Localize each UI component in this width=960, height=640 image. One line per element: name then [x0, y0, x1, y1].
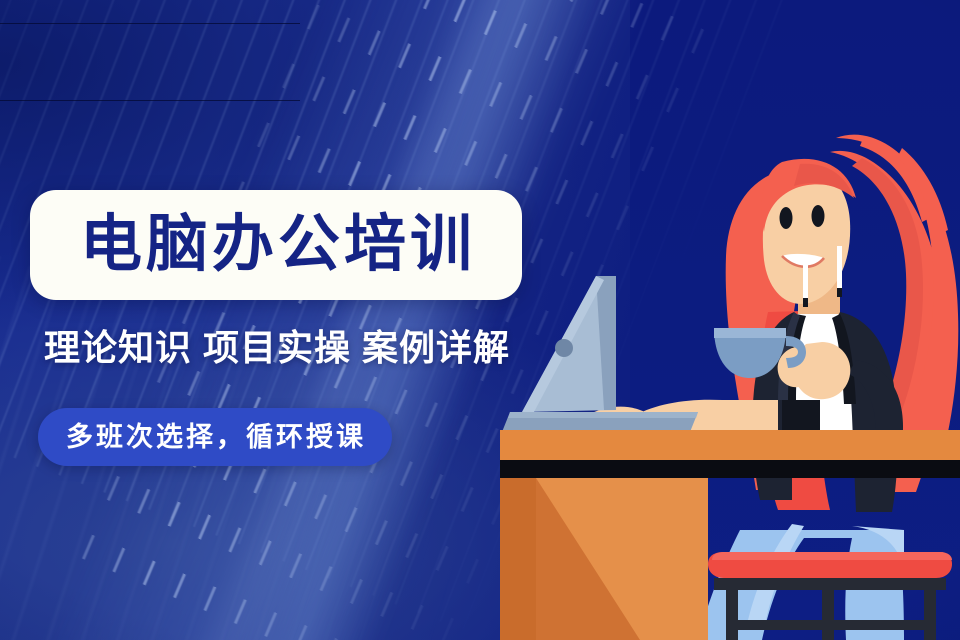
cta-button-label: 多班次选择，循环授课 [66, 424, 366, 451]
headline-card: 电脑办公培训 [30, 190, 522, 300]
page-title: 电脑办公培训 [76, 214, 476, 276]
earring-right-icon [837, 246, 842, 297]
illustration-woman-at-desk [500, 60, 960, 640]
cta-button[interactable]: 多班次选择，循环授课 [38, 408, 392, 466]
promo-banner: 电脑办公培训 理论知识 项目实操 案例详解 多班次选择，循环授课 [0, 0, 960, 640]
earring-left-icon [803, 256, 808, 307]
subheadline: 理论知识 项目实操 案例详解 [44, 330, 510, 366]
eye-right-icon [812, 205, 825, 227]
eye-left-icon [780, 207, 793, 229]
